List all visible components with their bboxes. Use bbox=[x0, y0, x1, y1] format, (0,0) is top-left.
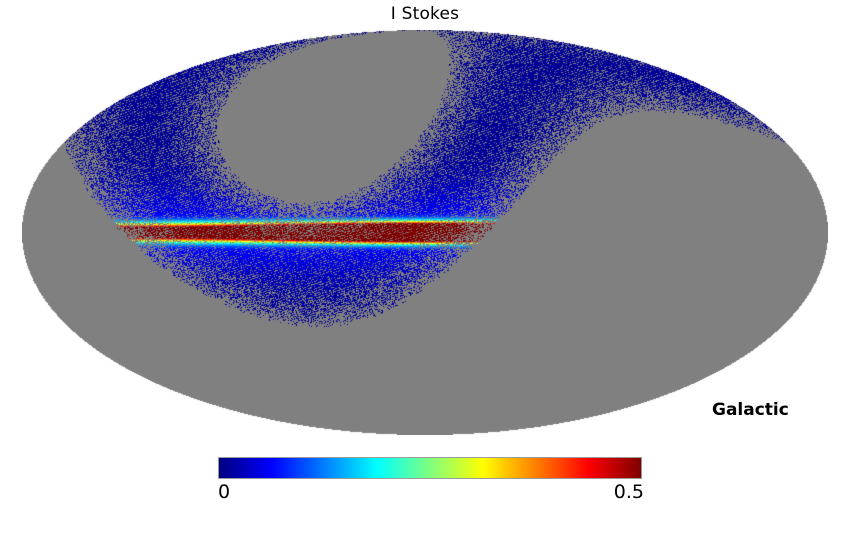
colorbar-min-label: 0 bbox=[218, 481, 230, 503]
coordinate-system-label: Galactic bbox=[712, 400, 789, 420]
colorbar-gradient bbox=[218, 457, 642, 479]
colorbar-max-label: 0.5 bbox=[614, 481, 644, 503]
sky-map-canvas bbox=[22, 30, 828, 435]
figure-root: I Stokes Galactic 0 0.5 bbox=[0, 0, 850, 540]
page-title: I Stokes bbox=[0, 4, 850, 24]
sky-map bbox=[22, 30, 828, 435]
colorbar: 0 0.5 bbox=[218, 457, 644, 507]
